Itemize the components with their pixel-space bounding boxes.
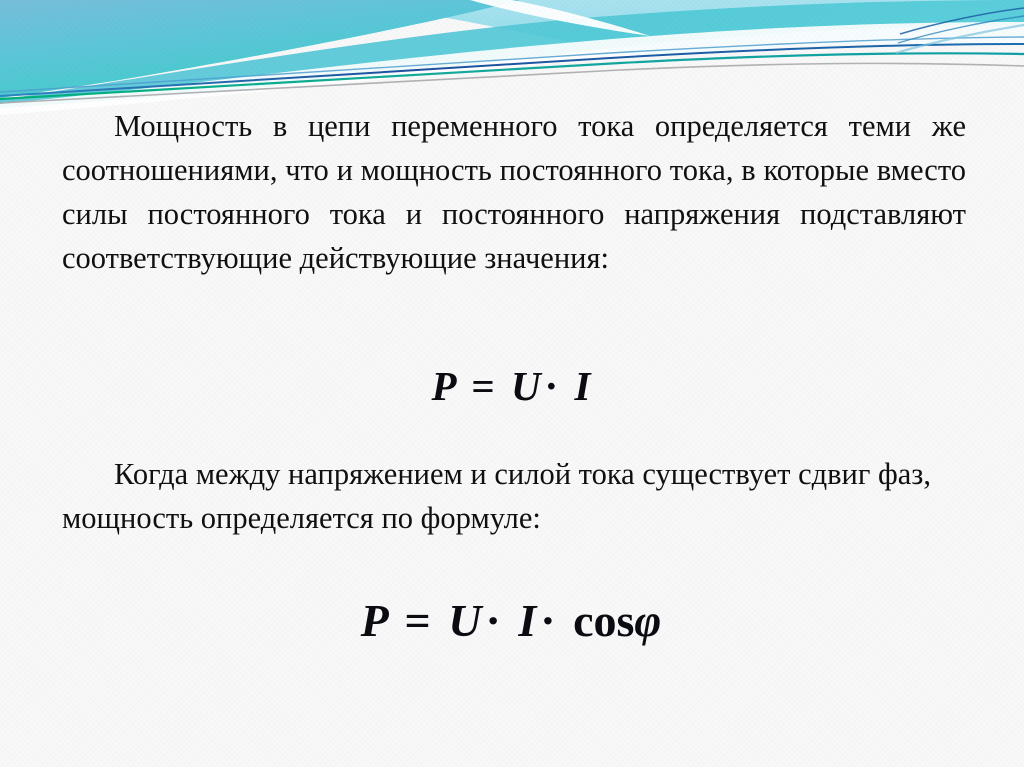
formula-2-i: I [518,595,538,646]
slide-canvas: Мощность в цепи переменного тока определ… [0,0,1024,767]
formula-2-u: U [448,595,483,646]
paragraph-one: Мощность в цепи переменного тока определ… [62,104,966,280]
formula-2-dot-2: · [538,595,559,646]
paragraph-two: Когда между напряжением и силой тока сущ… [62,452,974,540]
slide-content: Мощность в цепи переменного тока определ… [0,0,1024,767]
formula-2-p: P [361,595,389,646]
formula-2-equals: = [403,595,435,646]
paragraph-one-text: Мощность в цепи переменного тока определ… [62,109,966,275]
paragraph-two-text: Когда между напряжением и силой тока сущ… [62,457,931,535]
formula-1-p: P [432,363,458,409]
formula-2-dot-1: · [484,595,505,646]
formula-1-u: U [511,363,543,409]
formula-power-ac: P = U· I· cosφ [0,594,1024,647]
formula-2-cos: cos [573,595,634,646]
formula-2-phi: φ [634,595,663,646]
formula-power-dc: P = U· I [0,362,1024,410]
formula-1-equals: = [469,363,498,409]
formula-1-dot: · [543,363,563,409]
formula-1-i: I [574,363,592,409]
